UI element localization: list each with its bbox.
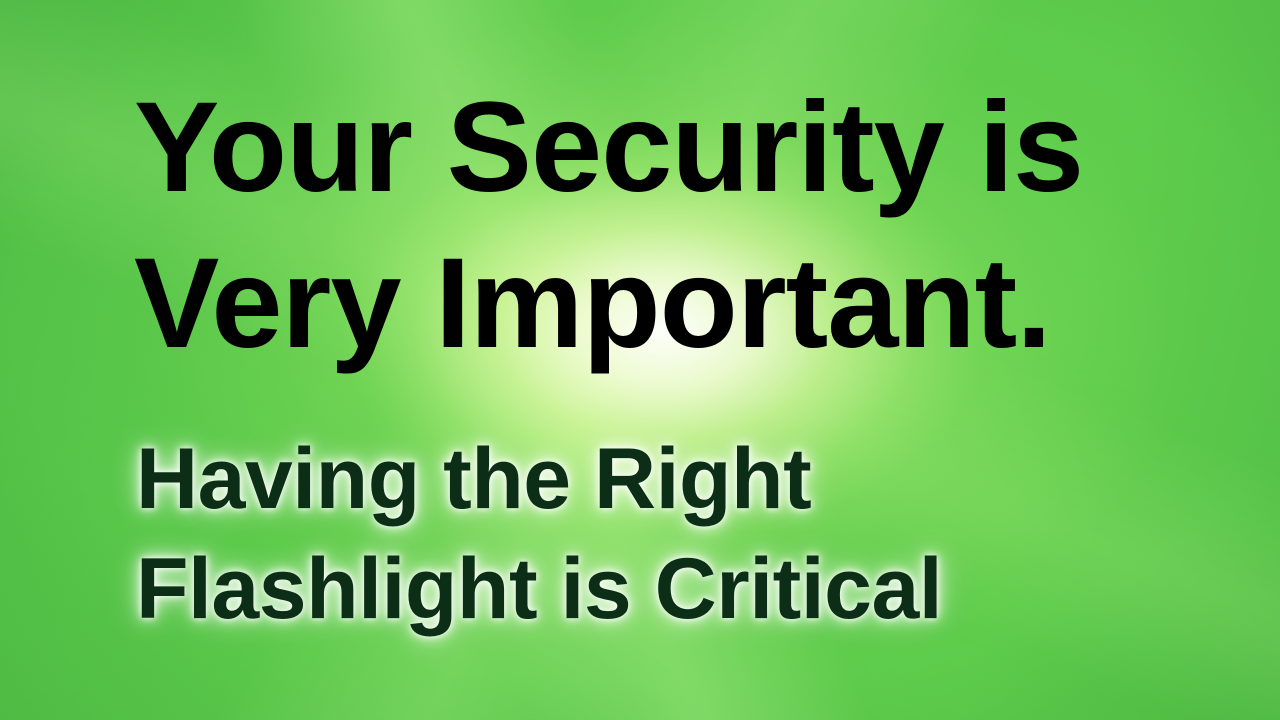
subheadline-line-2: Flashlight is Critical	[136, 534, 1196, 644]
slide-content: Your Security is Very Important. Having …	[0, 0, 1280, 720]
headline-line-2: Very Important.	[134, 226, 1194, 382]
slide-canvas: Your Security is Very Important. Having …	[0, 0, 1280, 720]
headline-line-1: Your Security is	[134, 70, 1194, 226]
subheadline-line-1: Having the Right	[136, 424, 1196, 534]
headline-block: Your Security is Very Important.	[134, 70, 1194, 382]
subheadline-block: Having the Right Flashlight is Critical	[136, 424, 1196, 644]
